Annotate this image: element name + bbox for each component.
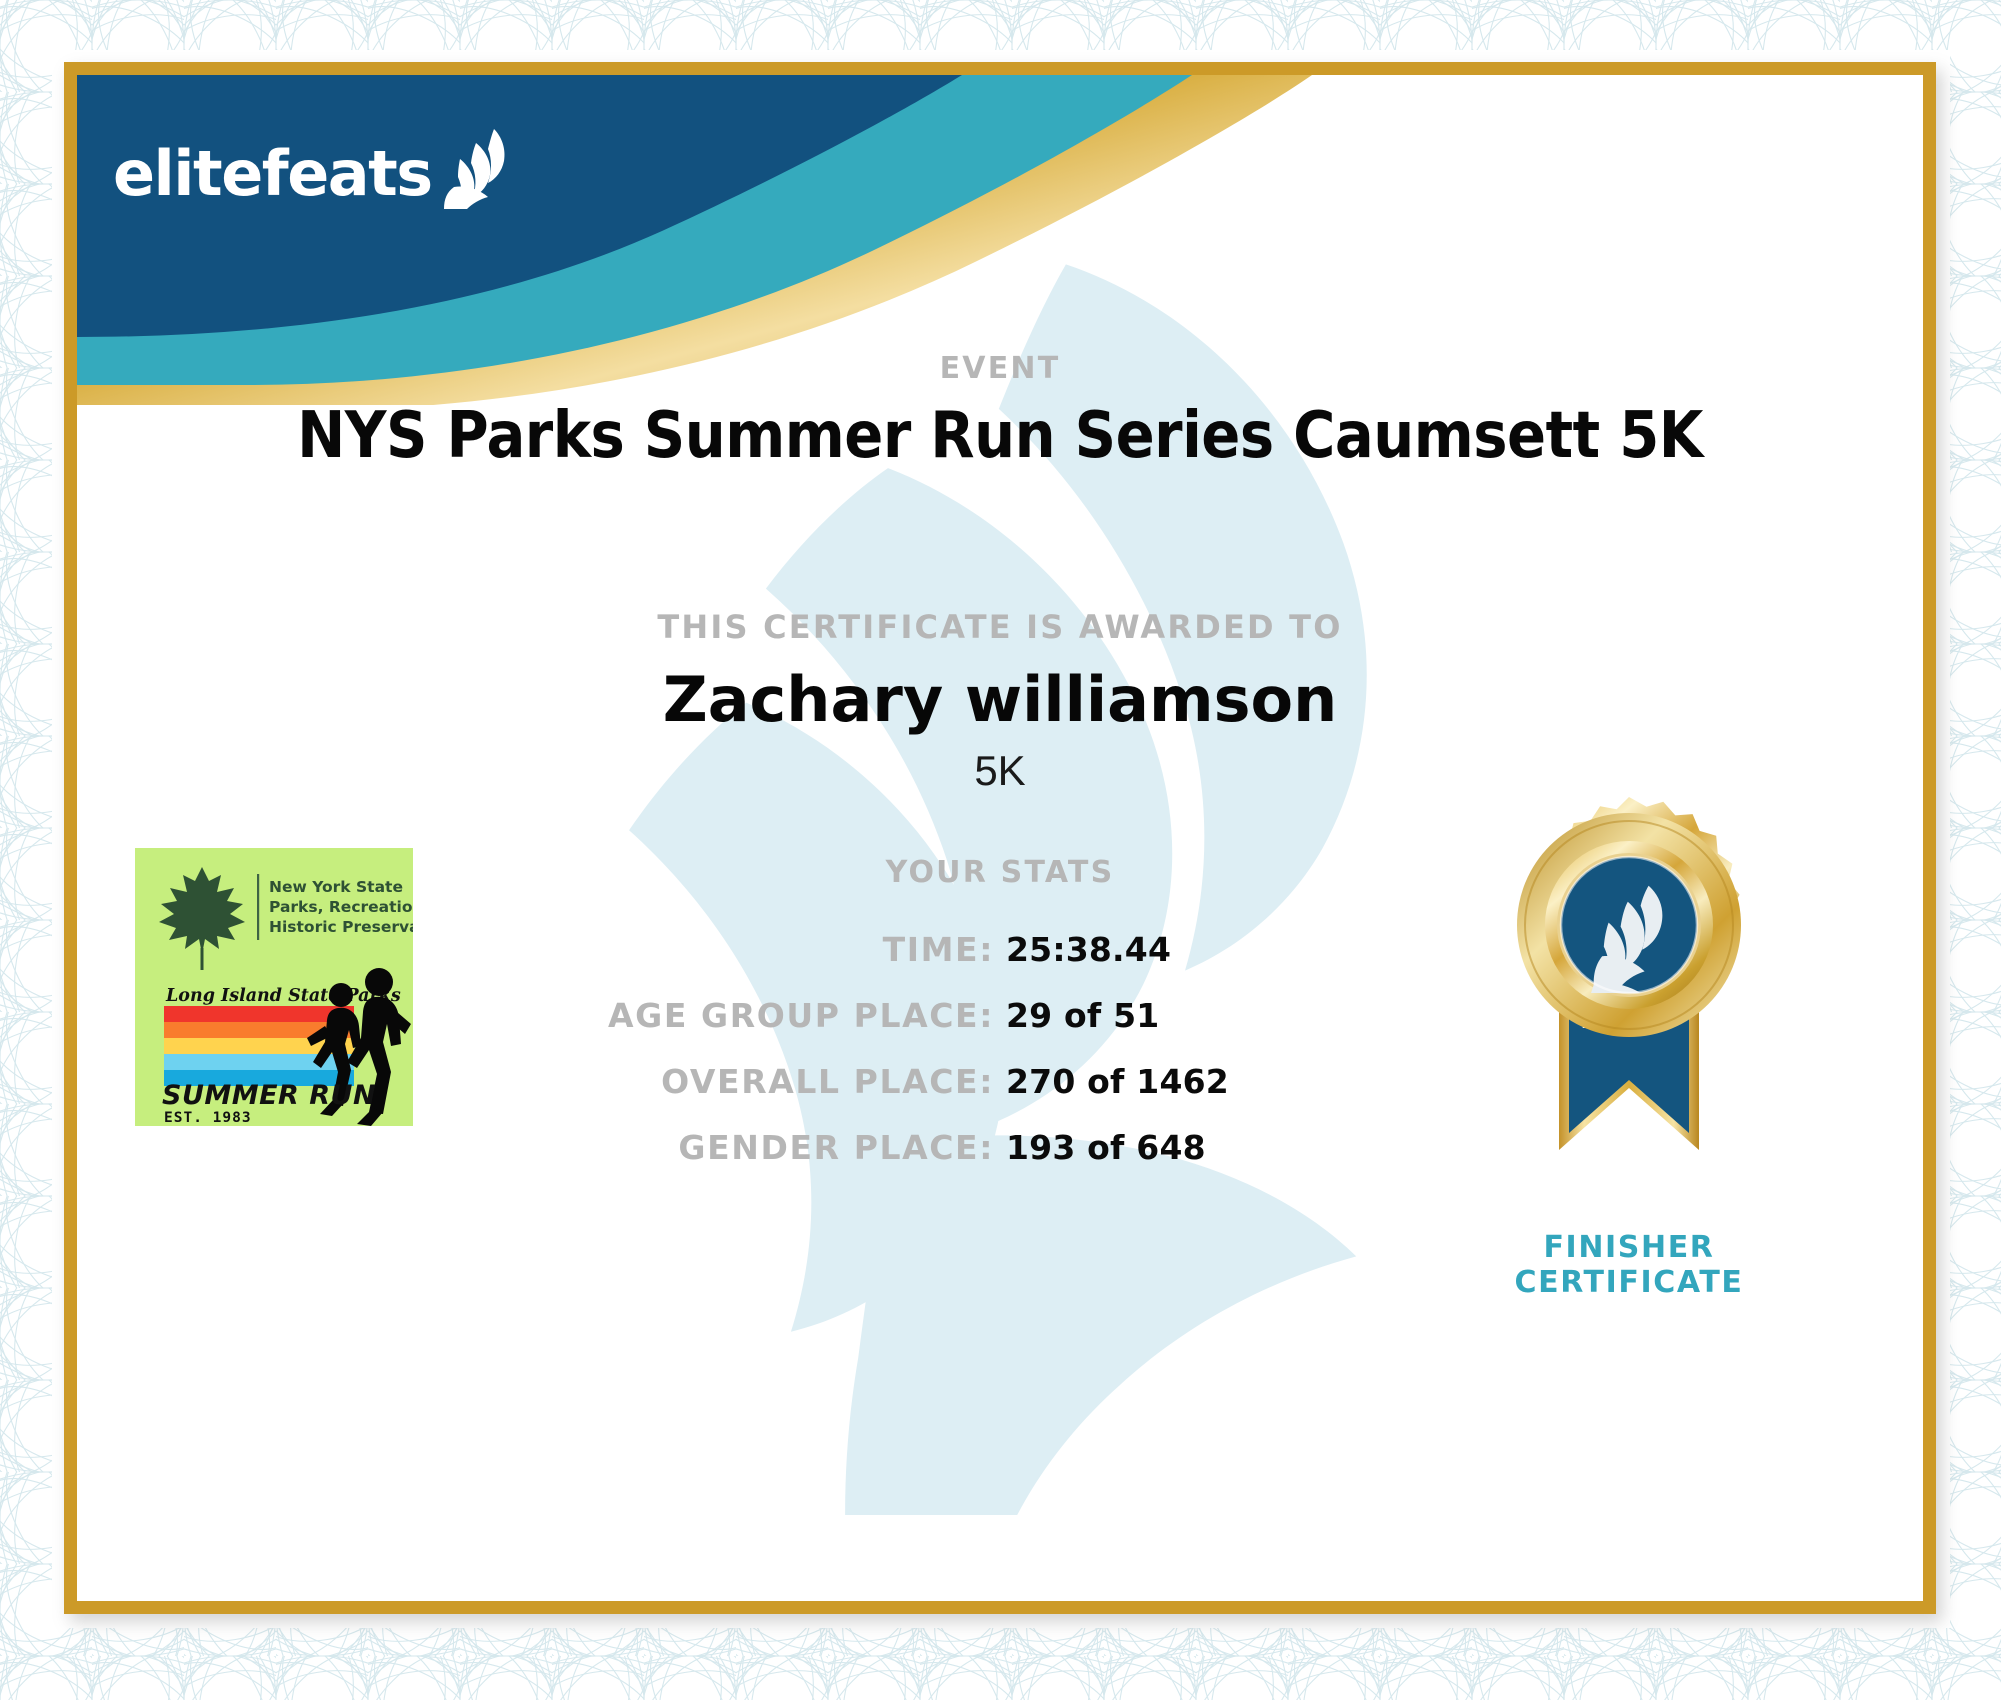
stat-value: 25:38.44: [1006, 930, 1439, 969]
stat-key: TIME:: [561, 930, 994, 969]
medal-caption-line2: CERTIFICATE: [1449, 1265, 1809, 1300]
stat-value: 270 of 1462: [1006, 1062, 1439, 1101]
medal-caption: FINISHER CERTIFICATE: [1449, 1230, 1809, 1301]
race-distance: 5K: [77, 747, 1923, 795]
medal-caption-line1: FINISHER: [1449, 1230, 1809, 1265]
stat-key: OVERALL PLACE:: [561, 1062, 994, 1101]
svg-text:Historic Preservation: Historic Preservation: [269, 918, 413, 936]
nys-parks-summer-run-logo: New York State Parks, Recreation and His…: [135, 848, 413, 1126]
event-label: EVENT: [77, 351, 1923, 386]
winged-foot-watermark-icon: [477, 115, 1657, 1515]
svg-text:Parks, Recreation and: Parks, Recreation and: [269, 898, 413, 916]
brand-wordmark: elitefeats: [113, 143, 432, 205]
elitefeats-logo: elitefeats: [113, 125, 516, 205]
stat-value: 29 of 51: [1006, 996, 1439, 1035]
event-title: NYS Parks Summer Run Series Caumsett 5K: [77, 399, 1923, 473]
finisher-medal-badge: 2023: [1489, 795, 1769, 1225]
stat-key: AGE GROUP PLACE:: [561, 996, 994, 1035]
svg-text:EST. 1983: EST. 1983: [164, 1110, 252, 1126]
svg-text:SUMMER RUN: SUMMER RUN: [162, 1080, 376, 1111]
certificate-frame: elitefeats EVENT NYS Parks Summer Run Se…: [64, 62, 1936, 1614]
recipient-name: Zachary williamson: [77, 663, 1923, 736]
awarded-to-label: THIS CERTIFICATE IS AWARDED TO: [77, 608, 1923, 646]
stat-value: 193 of 648: [1006, 1128, 1439, 1167]
winged-foot-icon: [438, 125, 516, 209]
stat-key: GENDER PLACE:: [561, 1128, 994, 1167]
certificate-page: elitefeats EVENT NYS Parks Summer Run Se…: [0, 0, 2001, 1700]
svg-text:New York State: New York State: [269, 878, 403, 896]
medal-starburst: [1517, 797, 1741, 1037]
